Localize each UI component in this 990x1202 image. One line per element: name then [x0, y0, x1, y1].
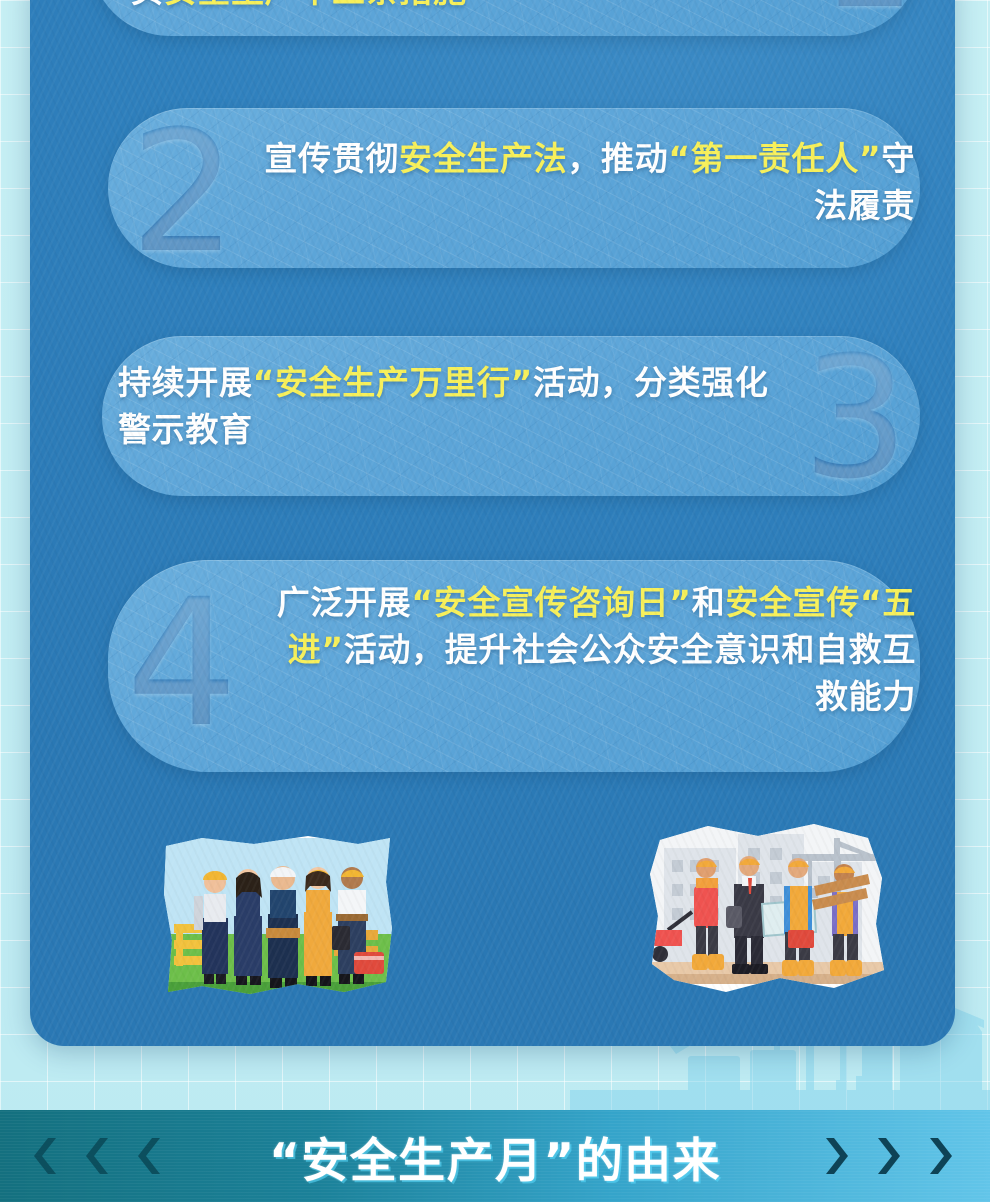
chevron-left-icons: [22, 1133, 172, 1179]
chevron-right-icons: [814, 1133, 964, 1179]
measures-card: 1 实安全生产十五条措施 2 宣传贯彻安全生产法，推动“第一责任人”守法履责 3…: [30, 0, 955, 1046]
measure-text-2-segment-4: “第一责任人”: [668, 139, 881, 178]
chevron-left-icon: [126, 1133, 172, 1179]
chevron-right-icon: [918, 1133, 964, 1179]
measure-text-1-segment-1: 实: [130, 0, 164, 10]
measure-text-3-segment-1: 持续开展: [118, 363, 253, 402]
chevron-left-icon: [74, 1133, 120, 1179]
measure-text-2-segment-2: 安全生产法: [399, 139, 567, 178]
chevron-right-icon: [866, 1133, 912, 1179]
bottom-banner[interactable]: “安全生产月”的由来: [0, 1110, 990, 1202]
measure-text-4-segment-3: 和: [692, 583, 726, 622]
chevron-left-icon: [22, 1133, 68, 1179]
measure-text-1-segment-2: 安全生产十五条措施: [164, 0, 467, 10]
banner-title: “安全生产月”的由来: [269, 1122, 721, 1191]
measure-number-2: 2: [130, 108, 237, 276]
measure-text-3: 持续开展“安全生产万里行”活动，分类强化警示教育: [118, 360, 778, 454]
measure-text-4-segment-1: 广泛开展: [277, 583, 412, 622]
workers-group-photo: [158, 832, 398, 1004]
measure-text-4: 广泛开展“安全宣传咨询日”和安全宣传“五进”活动，提升社会公众安全意识和自救互救…: [256, 580, 916, 721]
construction-site-photo: [638, 812, 894, 1008]
chevron-right-icon: [814, 1133, 860, 1179]
measure-text-4-segment-2: “安全宣传咨询日”: [411, 583, 691, 622]
measure-number-4: 4: [126, 576, 238, 752]
measure-text-2: 宣传贯彻安全生产法，推动“第一责任人”守法履责: [255, 136, 915, 230]
measure-text-1: 实安全生产十五条措施: [130, 0, 890, 15]
infographic-page: 1 实安全生产十五条措施 2 宣传贯彻安全生产法，推动“第一责任人”守法履责 3…: [0, 0, 990, 1202]
measure-text-2-segment-3: ，推动: [567, 139, 668, 178]
measure-text-2-segment-1: 宣传贯彻: [264, 139, 399, 178]
measure-text-3-segment-2: “安全生产万里行”: [253, 363, 533, 402]
measure-number-3: 3: [802, 334, 909, 502]
measure-text-4-segment-5: 活动，提升社会公众安全意识和自救互救能力: [344, 630, 916, 716]
